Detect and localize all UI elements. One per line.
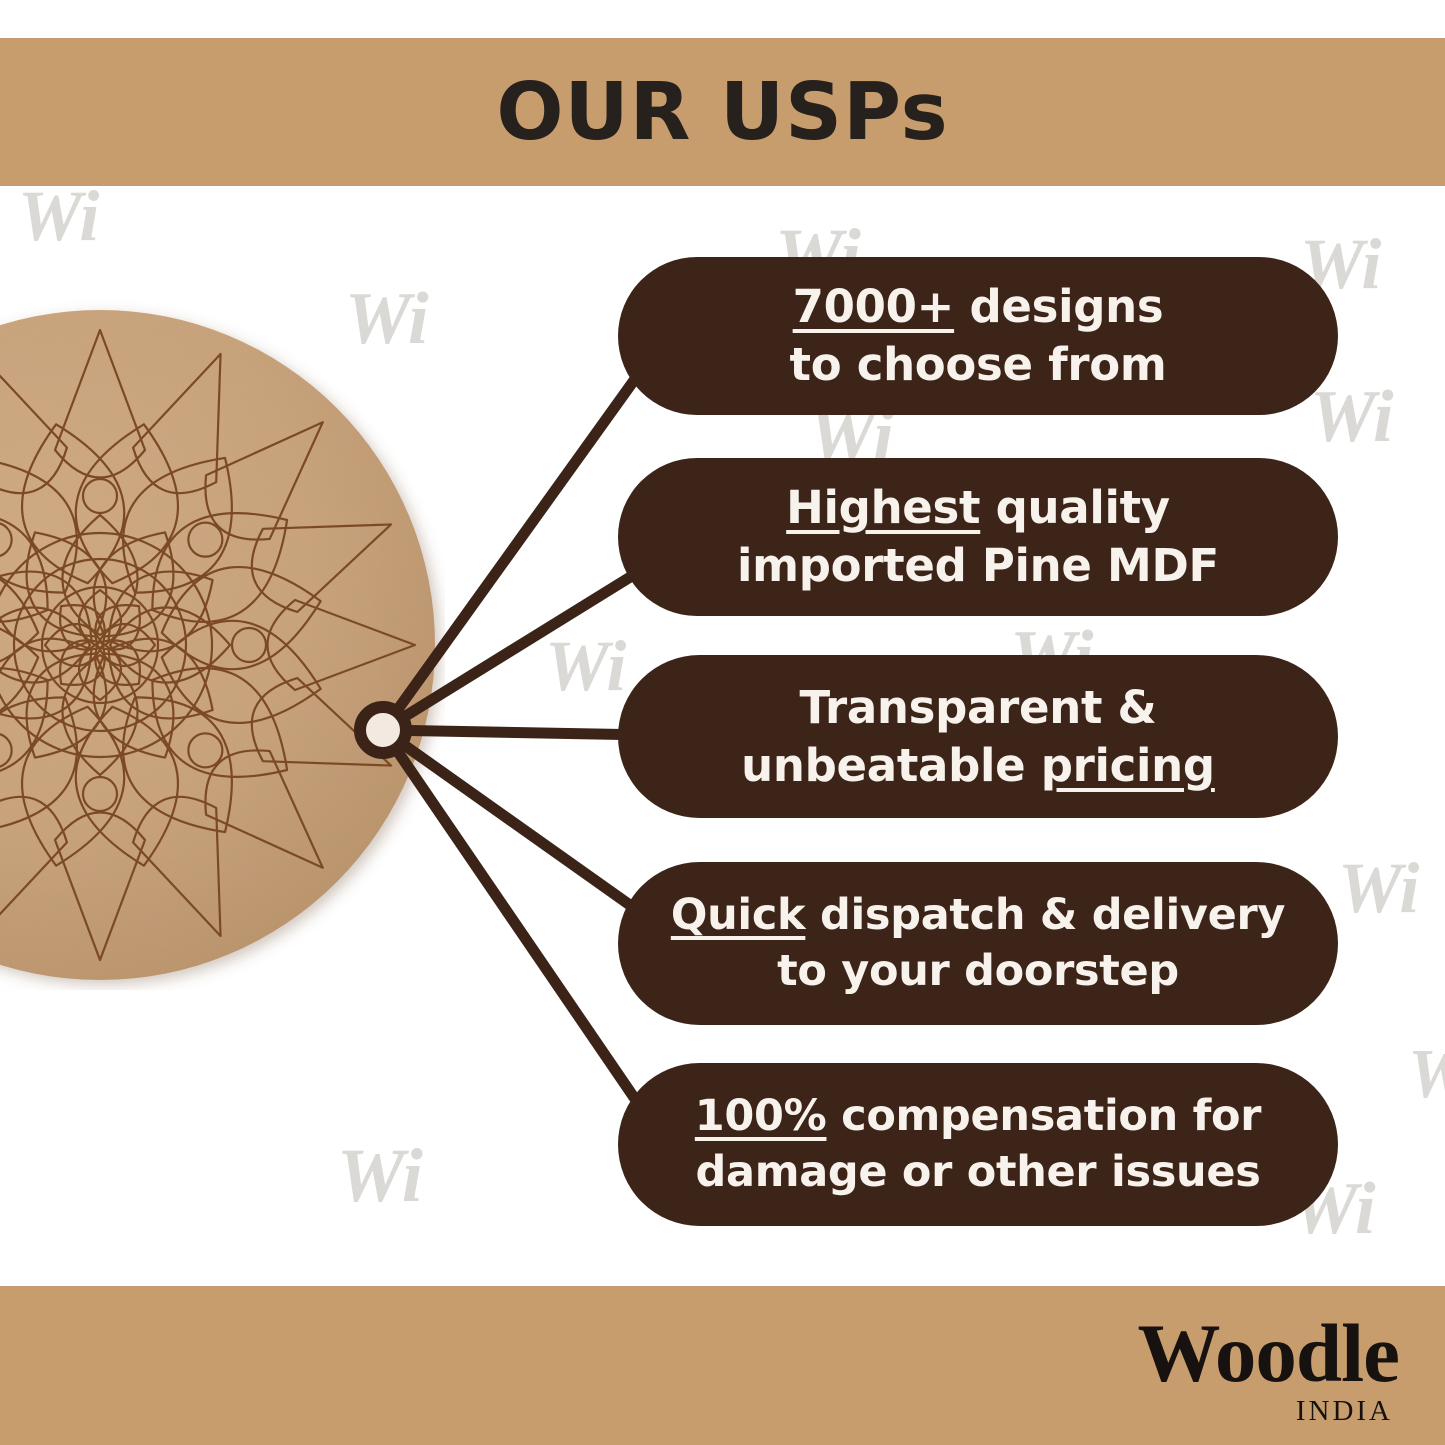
- usp-line2: imported Pine MDF: [737, 539, 1219, 592]
- usp-pill-quality[interactable]: Highest quality imported Pine MDF: [618, 458, 1338, 616]
- usp-rest: quality: [980, 481, 1170, 534]
- usp-line2: to choose from: [790, 338, 1167, 391]
- usp-highlight: Quick: [671, 890, 806, 940]
- mdf-mandala-disc: [0, 300, 445, 990]
- watermark-wi: Wi: [1408, 1040, 1445, 1110]
- watermark-wi: Wi: [545, 630, 626, 702]
- usp-pill-compensation[interactable]: 100% compensation for damage or other is…: [618, 1063, 1338, 1226]
- usp-infographic: Wi Wi Wi Wi Wi Wi Wi Wi Wi Wi Wi Wi: [0, 0, 1445, 1445]
- usp-rest: compensation for: [826, 1091, 1261, 1141]
- watermark-wi: Wi: [337, 1138, 423, 1214]
- header-band: OUR USPs: [0, 38, 1445, 186]
- usp-pill-text: 100% compensation for damage or other is…: [695, 1089, 1261, 1199]
- usp-rest: dispatch & delivery: [805, 890, 1285, 940]
- usp-pill-text: Transparent & unbeatable pricing: [741, 679, 1215, 794]
- usp-highlight: 100%: [695, 1091, 827, 1141]
- usp-line2: to your doorstep: [777, 946, 1179, 996]
- usp-highlight: pricing: [1041, 739, 1215, 792]
- usp-pill-pricing[interactable]: Transparent & unbeatable pricing: [618, 655, 1338, 818]
- watermark-wi: Wi: [1338, 852, 1419, 924]
- usp-line1: Transparent &: [800, 681, 1157, 734]
- brand-logo-subtitle: INDIA: [1138, 1397, 1393, 1426]
- brand-logo: Woodle INDIA: [1138, 1312, 1399, 1426]
- usp-pill-designs[interactable]: 7000+ designs to choose from: [618, 257, 1338, 415]
- usp-line2: damage or other issues: [696, 1147, 1261, 1197]
- usp-pill-text: Quick dispatch & delivery to your doorst…: [671, 888, 1285, 998]
- usp-pill-dispatch[interactable]: Quick dispatch & delivery to your doorst…: [618, 862, 1338, 1025]
- footer-band: Woodle INDIA: [0, 1286, 1445, 1445]
- watermark-wi: Wi: [1310, 380, 1394, 454]
- usp-highlight: 7000+: [793, 280, 954, 333]
- page-title: OUR USPs: [0, 66, 1445, 158]
- usp-pill-text: 7000+ designs to choose from: [790, 278, 1167, 393]
- usp-rest: designs: [954, 280, 1163, 333]
- hub-node: [354, 701, 412, 759]
- usp-rest: unbeatable: [741, 739, 1041, 792]
- usp-pill-text: Highest quality imported Pine MDF: [737, 479, 1219, 594]
- brand-logo-wordmark: Woodle: [1138, 1312, 1399, 1395]
- watermark-wi: Wi: [18, 180, 99, 252]
- usp-highlight: Highest: [786, 481, 980, 534]
